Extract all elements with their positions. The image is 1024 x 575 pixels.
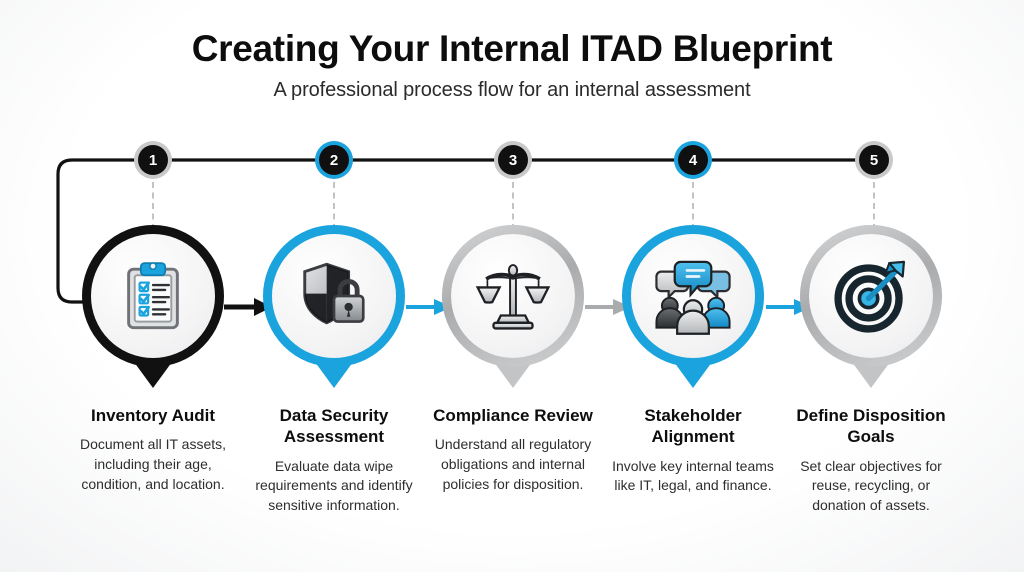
badge-dash-1 — [152, 182, 154, 230]
process-step-5[interactable]: Define Disposition Goals Set clear objec… — [778, 225, 964, 516]
step-5-pin — [800, 225, 942, 367]
step-badge-3[interactable]: 3 — [498, 145, 528, 175]
process-step-1[interactable]: Inventory Audit Document all IT assets, … — [60, 225, 246, 495]
step-badge-2[interactable]: 2 — [319, 145, 349, 175]
step-3-title: Compliance Review — [420, 405, 606, 426]
step-3-pin — [442, 225, 584, 367]
step-badge-1-number: 1 — [149, 153, 157, 168]
process-step-3[interactable]: Compliance Review Understand all regulat… — [420, 225, 606, 495]
step-2-description: Evaluate data wipe requirements and iden… — [241, 457, 427, 517]
step-badge-4[interactable]: 4 — [678, 145, 708, 175]
process-step-4[interactable]: Stakeholder Alignment Involve key intern… — [600, 225, 786, 496]
step-4-pin — [622, 225, 764, 367]
step-1-description: Document all IT assets, including their … — [60, 435, 246, 495]
process-steps: Inventory Audit Document all IT assets, … — [0, 225, 1024, 575]
step-2-pin — [263, 225, 405, 367]
step-4-title: Stakeholder Alignment — [600, 405, 786, 448]
badge-dash-4 — [692, 182, 694, 230]
step-badge-3-number: 3 — [509, 153, 517, 168]
badge-dash-2 — [333, 182, 335, 230]
balance-scales-icon — [451, 234, 575, 358]
step-badge-2-number: 2 — [330, 153, 338, 168]
step-badge-5-number: 5 — [870, 153, 878, 168]
step-4-description: Involve key internal teams like IT, lega… — [600, 457, 786, 497]
step-1-pin — [82, 225, 224, 367]
clipboard-checklist-icon — [91, 234, 215, 358]
step-5-title: Define Disposition Goals — [778, 405, 964, 448]
step-badge-4-number: 4 — [689, 153, 697, 168]
header: Creating Your Internal ITAD Blueprint A … — [0, 0, 1024, 102]
badge-dash-5 — [873, 182, 875, 230]
process-step-2[interactable]: Data Security Assessment Evaluate data w… — [241, 225, 427, 516]
step-1-title: Inventory Audit — [60, 405, 246, 426]
people-speech-bubbles-icon — [631, 234, 755, 358]
step-2-title: Data Security Assessment — [241, 405, 427, 448]
badge-dash-3 — [512, 182, 514, 230]
target-arrow-icon — [809, 234, 933, 358]
step-3-description: Understand all regulatory obligations an… — [420, 435, 606, 495]
page-subtitle: A professional process flow for an inter… — [0, 79, 1024, 102]
shield-lock-icon — [272, 234, 396, 358]
page-title: Creating Your Internal ITAD Blueprint — [0, 28, 1024, 71]
step-badge-1[interactable]: 1 — [138, 145, 168, 175]
step-5-description: Set clear objectives for reuse, recyclin… — [778, 457, 964, 517]
step-badge-5[interactable]: 5 — [859, 145, 889, 175]
